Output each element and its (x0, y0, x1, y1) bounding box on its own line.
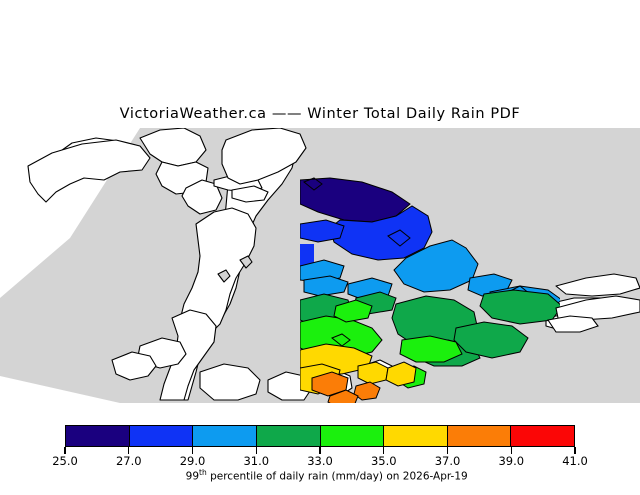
colorbar-segment-4 (320, 426, 384, 446)
map-svg (0, 128, 640, 403)
colorbar-tick-2 (192, 447, 193, 454)
colorbar-caption: 99th percentile of daily rain (mm/day) o… (0, 456, 640, 495)
colorbar-tick-5 (383, 447, 384, 454)
colorbar-swatches (65, 425, 575, 447)
colorbar-tick-1 (128, 447, 129, 454)
weather-map-page: VictoriaWeather.ca —— Winter Total Daily… (0, 0, 640, 480)
colorbar-tick-0 (64, 447, 65, 454)
colorbar-segment-0 (66, 426, 129, 446)
colorbar-tick-8 (574, 447, 575, 454)
colorbar-segment-1 (129, 426, 193, 446)
colorbar-tick-6 (447, 447, 448, 454)
colorbar-tick-7 (511, 447, 512, 454)
colorbar-tick-4 (319, 447, 320, 454)
colorbar-segment-3 (256, 426, 320, 446)
colorbar-segment-6 (447, 426, 511, 446)
colorbar-segment-5 (383, 426, 447, 446)
caption-prefix: 99 (186, 471, 199, 483)
page-title: VictoriaWeather.ca —— Winter Total Daily… (0, 106, 640, 122)
caption-ordinal: th (199, 468, 207, 477)
colorbar-tick-3 (256, 447, 257, 454)
map-canvas (0, 128, 640, 403)
colorbar-segment-7 (510, 426, 574, 446)
caption-suffix: percentile of daily rain (mm/day) on 202… (207, 471, 468, 483)
colorbar-segment-2 (192, 426, 256, 446)
